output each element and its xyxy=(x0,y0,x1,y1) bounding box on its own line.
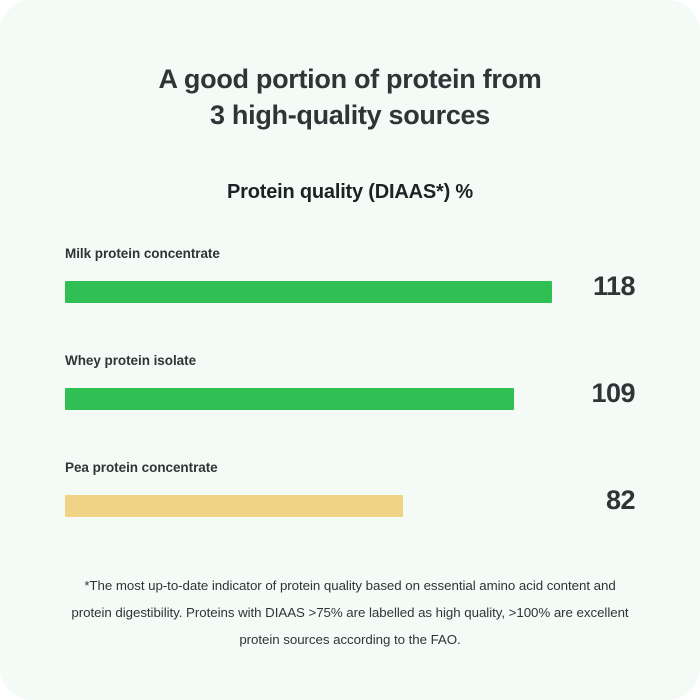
bar-row: Pea protein concentrate 82 xyxy=(65,460,635,567)
footnote-text: *The most up-to-date indicator of protei… xyxy=(66,572,634,653)
bar-fill xyxy=(65,388,514,410)
bar-track xyxy=(65,388,634,410)
bar-value: 82 xyxy=(553,485,635,516)
bar-label: Milk protein concentrate xyxy=(65,246,635,262)
bar-value: 118 xyxy=(553,271,635,302)
infographic-card: A good portion of protein from 3 high-qu… xyxy=(0,0,700,700)
bar-value: 109 xyxy=(553,378,635,409)
chart-subtitle: Protein quality (DIAAS*) % xyxy=(0,181,700,204)
bar-row: Milk protein concentrate 118 xyxy=(65,246,635,353)
bar-row: Whey protein isolate 109 xyxy=(65,353,635,460)
bar-label: Whey protein isolate xyxy=(65,353,635,369)
page-title: A good portion of protein from 3 high-qu… xyxy=(0,61,700,133)
bar-track xyxy=(65,281,634,303)
bar-track xyxy=(65,495,634,517)
bar-fill xyxy=(65,281,552,303)
bar-chart: Milk protein concentrate 118 Whey protei… xyxy=(65,246,635,567)
bar-fill xyxy=(65,495,403,517)
bar-label: Pea protein concentrate xyxy=(65,460,635,476)
